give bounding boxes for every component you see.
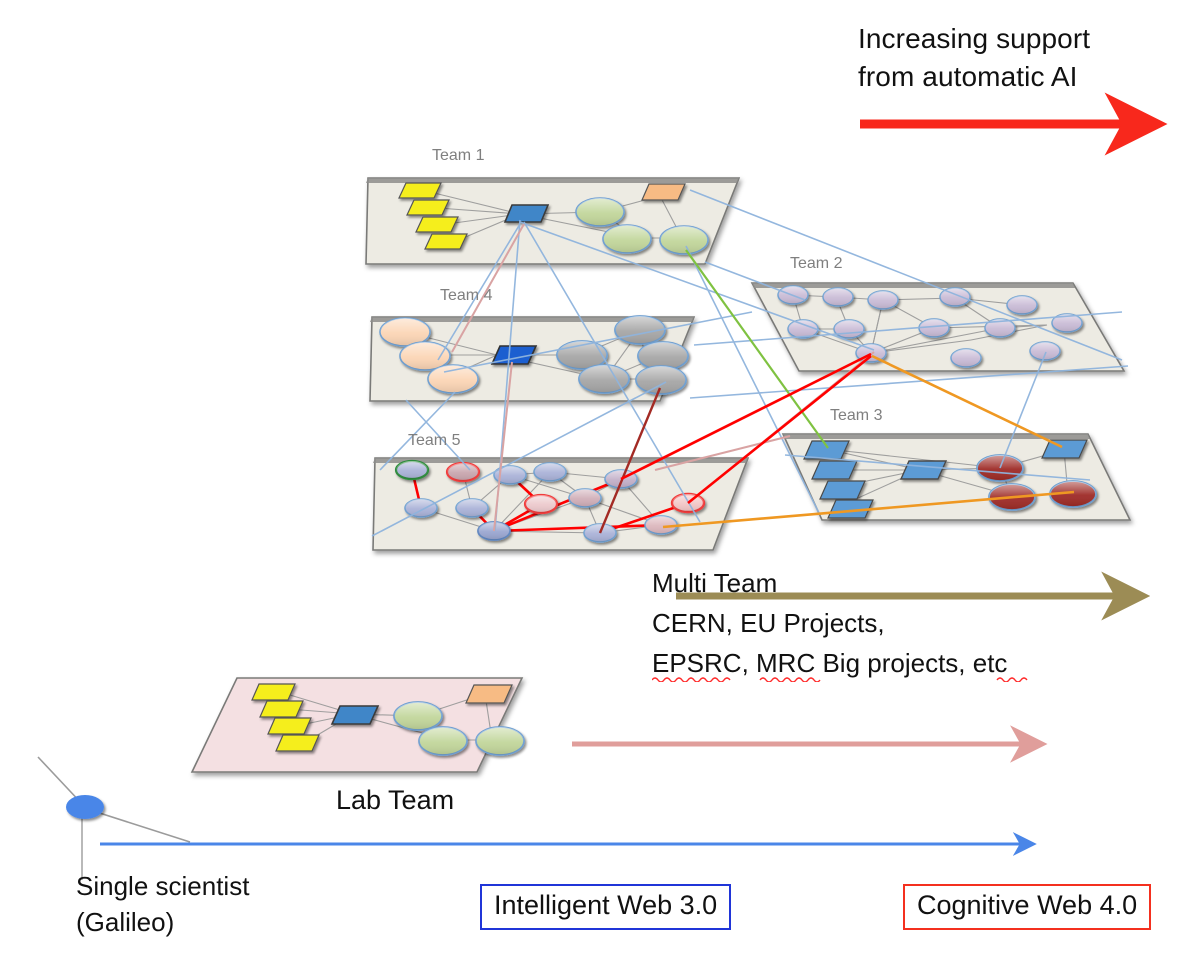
intelligent-web-label: Intelligent Web 3.0 bbox=[494, 890, 717, 920]
lab-team-label: Lab Team bbox=[336, 785, 454, 817]
panel-team5 bbox=[373, 458, 748, 550]
lab-blue-document bbox=[332, 706, 378, 724]
single-scientist-node-group bbox=[38, 757, 190, 880]
intelligent-web-box[interactable]: Intelligent Web 3.0 bbox=[480, 884, 731, 930]
increasing-support-line2: from automatic AI bbox=[858, 60, 1078, 93]
panel-label-team3: Team 3 bbox=[830, 407, 882, 426]
panel-label-team5: Team 5 bbox=[408, 432, 460, 451]
team1-orange-document bbox=[642, 184, 685, 200]
multi-team-line1: Multi Team bbox=[652, 568, 777, 599]
spellcheck-squiggle-epsrc bbox=[652, 676, 1052, 682]
multi-team-line3: EPSRC, MRC Big projects, etc bbox=[652, 648, 1007, 679]
panel-team1 bbox=[366, 178, 739, 264]
panel-team2 bbox=[752, 283, 1124, 371]
panel-lab-team bbox=[192, 678, 524, 772]
panel-label-team2: Team 2 bbox=[790, 255, 842, 274]
panel-team3 bbox=[783, 434, 1130, 520]
single-scientist-line2: (Galileo) bbox=[76, 907, 174, 938]
single-scientist-dot bbox=[66, 795, 104, 819]
single-scientist-line1: Single scientist bbox=[76, 871, 249, 902]
increasing-support-line1: Increasing support bbox=[858, 22, 1090, 55]
panel-label-team1: Team 1 bbox=[432, 147, 484, 166]
cognitive-web-box[interactable]: Cognitive Web 4.0 bbox=[903, 884, 1151, 930]
multi-team-line2: CERN, EU Projects, bbox=[652, 608, 885, 639]
scene-svg bbox=[0, 0, 1198, 958]
panel-label-team4: Team 4 bbox=[440, 287, 492, 306]
cognitive-web-label: Cognitive Web 4.0 bbox=[917, 890, 1137, 920]
diagram-canvas: Increasing support from automatic AI Tea… bbox=[0, 0, 1198, 958]
panel-team4 bbox=[370, 316, 694, 401]
team1-blue-document bbox=[505, 205, 548, 222]
lab-orange-document bbox=[466, 685, 512, 703]
